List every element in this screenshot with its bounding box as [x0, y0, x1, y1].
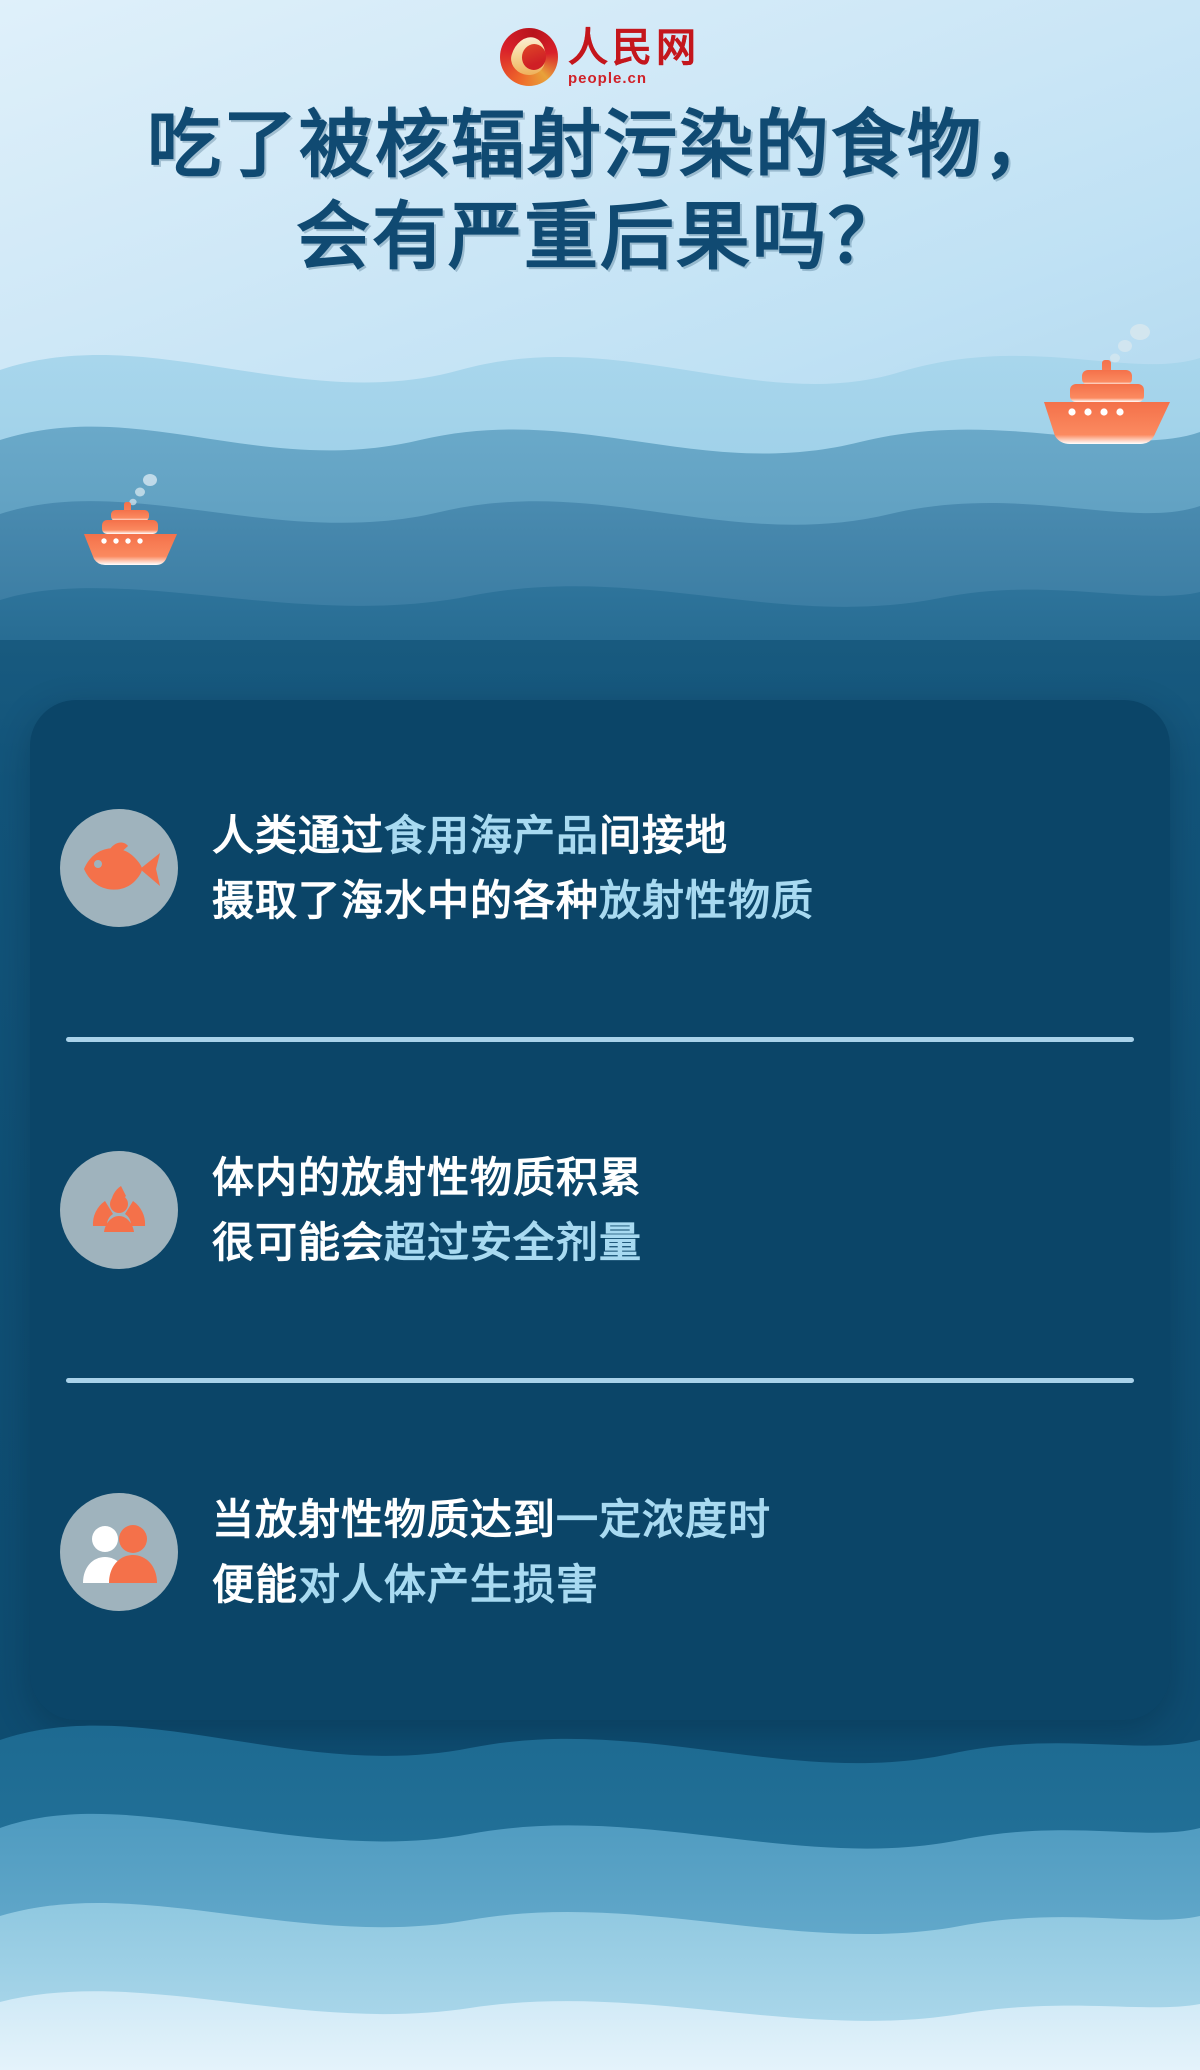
row-1-line-2: 摄取了海水中的各种放射性物质 — [212, 868, 1130, 933]
content-row-2: 体内的放射性物质积累 很可能会超过安全剂量 — [30, 1042, 1170, 1379]
row-1-line-2-seg-2: 放射性物质 — [599, 876, 814, 925]
brand-name-cn: 人民网 — [568, 28, 700, 68]
radiation-icon — [60, 1151, 178, 1269]
fish-icon — [60, 809, 178, 927]
content-row-1: 人类通过食用海产品间接地 摄取了海水中的各种放射性物质 — [30, 700, 1170, 1037]
row-1-line-2-seg-1: 摄取了海水中的各种 — [212, 876, 599, 925]
row-1-line-1-seg-1: 人类通过 — [212, 811, 384, 860]
row-1-line-1-seg-2: 食用海产品 — [384, 811, 599, 860]
row-2-line-2: 很可能会超过安全剂量 — [212, 1210, 1130, 1275]
row-2-line-1: 体内的放射性物质积累 — [212, 1145, 1130, 1210]
row-2-line-2-seg-1: 很可能会 — [212, 1218, 384, 1267]
brand-name-en: people.cn — [568, 71, 647, 86]
row-1-line-1: 人类通过食用海产品间接地 — [212, 803, 1130, 868]
row-2-line-1-seg-1: 体内的放射性物质积累 — [212, 1153, 642, 1202]
people-cn-logo-icon — [500, 28, 558, 86]
brand-logo: 人民网 people.cn — [0, 22, 1200, 92]
infographic-poster: 人民网 people.cn 吃了被核辐射污染的食物， 会有严重后果吗？ — [0, 0, 1200, 2070]
wave-layers-bottom — [0, 1410, 1200, 2070]
page-title: 吃了被核辐射污染的食物， 会有严重后果吗？ — [0, 100, 1200, 283]
page-title-line-1: 吃了被核辐射污染的食物， — [0, 100, 1200, 190]
ship-icon-right — [1030, 320, 1180, 450]
row-1-line-1-seg-3: 间接地 — [599, 811, 728, 860]
ship-icon-left — [78, 470, 188, 570]
brand-logo-text: 人民网 people.cn — [568, 28, 700, 86]
content-row-2-text: 体内的放射性物质积累 很可能会超过安全剂量 — [212, 1145, 1130, 1275]
row-2-line-2-seg-2: 超过安全剂量 — [384, 1218, 642, 1267]
content-row-1-text: 人类通过食用海产品间接地 摄取了海水中的各种放射性物质 — [212, 803, 1130, 933]
page-title-line-2: 会有严重后果吗？ — [0, 192, 1200, 282]
